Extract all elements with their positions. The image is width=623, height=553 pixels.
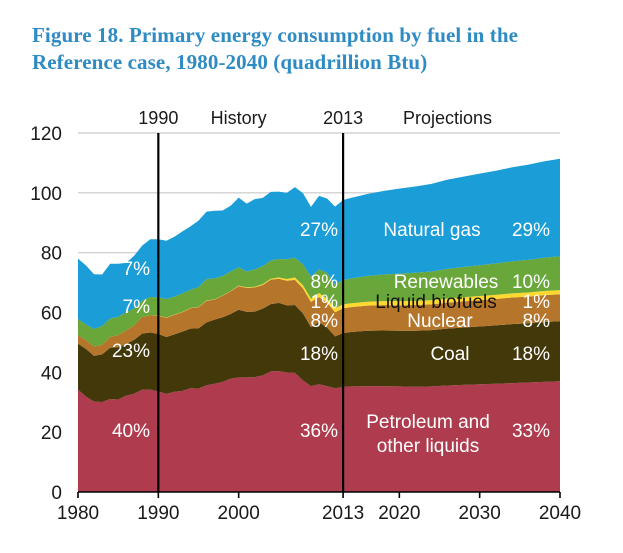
history-label: History <box>211 108 267 128</box>
pct-renewables-1990: 7% <box>123 259 151 280</box>
figure-container: Figure 18. Primary energy consumption by… <box>0 0 623 553</box>
pct-liquid-biofuels-2013: 1% <box>311 292 339 313</box>
stacked-area-chart: 020406080100120 198019902000201320202030… <box>0 104 623 553</box>
year-2013-marker: 2013 <box>323 108 363 128</box>
pct-renewables-2040: 10% <box>512 272 550 293</box>
pct-petroleum-2040: 33% <box>512 421 550 442</box>
y-tick-label-20: 20 <box>41 423 62 444</box>
y-tick-label-0: 0 <box>51 483 62 504</box>
series-label-petroleum-line2: other liquids <box>377 436 479 457</box>
pct-natural-gas-2013: 27% <box>300 220 338 241</box>
y-tick-label-60: 60 <box>41 304 62 325</box>
pct-coal-2013: 18% <box>300 344 338 365</box>
series-label-natural-gas: Natural gas <box>383 220 480 241</box>
pct-petroleum-1990: 40% <box>112 421 150 442</box>
figure-title-line-1: Figure 18. Primary energy consumption by… <box>32 23 518 47</box>
y-tick-label-80: 80 <box>41 244 62 265</box>
pct-natural-gas-2040: 29% <box>512 220 550 241</box>
series-label-coal: Coal <box>430 344 469 365</box>
pct-nuclear-2013: 8% <box>311 311 339 332</box>
y-axis-ticks-group: 020406080100120 <box>30 124 62 504</box>
pct-nuclear-2040: 8% <box>523 311 551 332</box>
series-label-renewables: Renewables <box>394 272 499 293</box>
x-tick-label-2013: 2013 <box>322 503 364 524</box>
x-tick-label-2040: 2040 <box>539 503 581 524</box>
x-tick-label-1980: 1980 <box>57 503 99 524</box>
pct-natural-gas-1990: 23% <box>112 220 150 241</box>
y-tick-label-120: 120 <box>30 124 62 145</box>
x-tick-label-1990: 1990 <box>137 503 179 524</box>
figure-title-line-2: Reference case, 1980-2040 (quadrillion B… <box>32 50 427 74</box>
projections-label: Projections <box>403 108 492 128</box>
pct-liquid-biofuels-2040: 1% <box>523 292 551 313</box>
figure-title: Figure 18. Primary energy consumption by… <box>32 22 602 76</box>
period-labels-group: 1990History2013Projections <box>138 108 492 128</box>
x-tick-label-2000: 2000 <box>218 503 260 524</box>
pct-nuclear-1990: 7% <box>123 297 151 318</box>
x-tick-label-2030: 2030 <box>459 503 501 524</box>
y-tick-label-40: 40 <box>41 363 62 384</box>
series-label-liquid-biofuels: Liquid biofuels <box>375 292 496 313</box>
x-tick-label-2020: 2020 <box>378 503 420 524</box>
pct-coal-2040: 18% <box>512 344 550 365</box>
pct-renewables-2013: 8% <box>311 272 339 293</box>
chart-plot-region: 020406080100120 198019902000201320202030… <box>0 104 623 553</box>
pct-petroleum-2013: 36% <box>300 421 338 442</box>
y-tick-label-100: 100 <box>30 184 62 205</box>
series-label-nuclear: Nuclear <box>407 311 473 332</box>
year-1990-marker: 1990 <box>138 108 178 128</box>
pct-coal-1990: 23% <box>112 341 150 362</box>
series-label-petroleum-line1: Petroleum and <box>366 412 490 433</box>
x-axis-ticks-group: 1980199020002013202020302040 <box>57 492 581 524</box>
